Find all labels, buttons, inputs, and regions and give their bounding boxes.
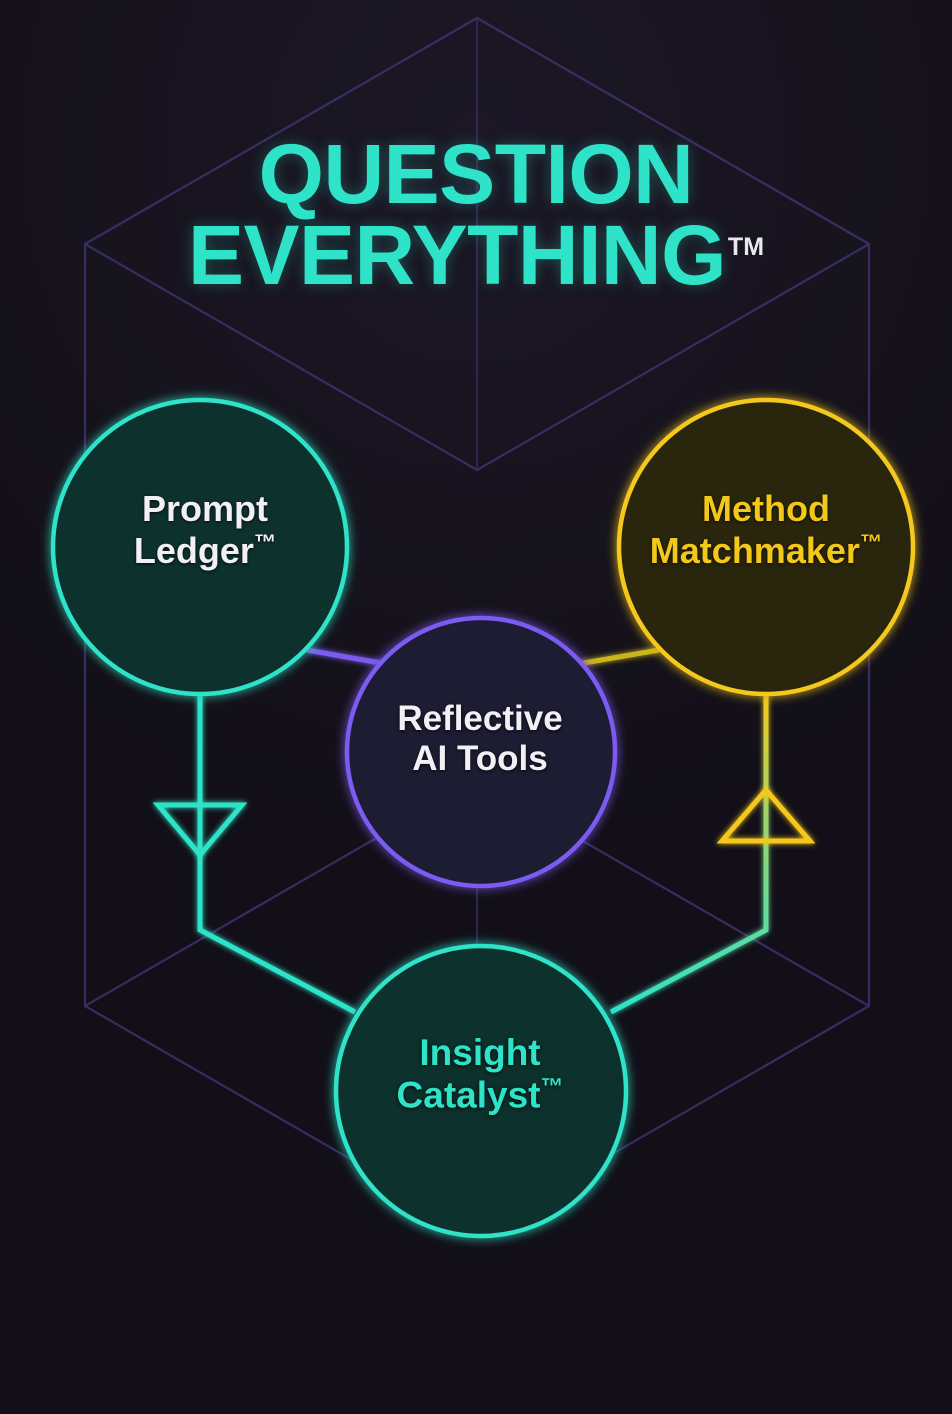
node-circle-method-matchmaker[interactable]: [619, 400, 913, 694]
headline-line-2-wrap: EVERYTHINGTM: [188, 215, 764, 296]
connector-prompt-to-insight: [200, 694, 355, 1012]
headline-line-2: EVERYTHING: [188, 208, 726, 302]
node-circle-insight-catalyst[interactable]: [336, 946, 626, 1236]
connector-method-to-reflective: [578, 650, 659, 664]
node-circle-prompt-ledger[interactable]: [53, 400, 347, 694]
page-title: QUESTION EVERYTHINGTM: [0, 134, 952, 297]
headline-line-1: QUESTION: [0, 134, 952, 215]
trademark-symbol: TM: [728, 233, 764, 261]
connector-method-to-insight: [611, 694, 766, 1012]
poster-canvas: QUESTION EVERYTHINGTM Prompt Ledger™ Met…: [0, 0, 952, 1414]
connector-prompt-to-reflective: [307, 650, 386, 664]
node-circle-reflective-ai-tools[interactable]: [347, 618, 615, 886]
